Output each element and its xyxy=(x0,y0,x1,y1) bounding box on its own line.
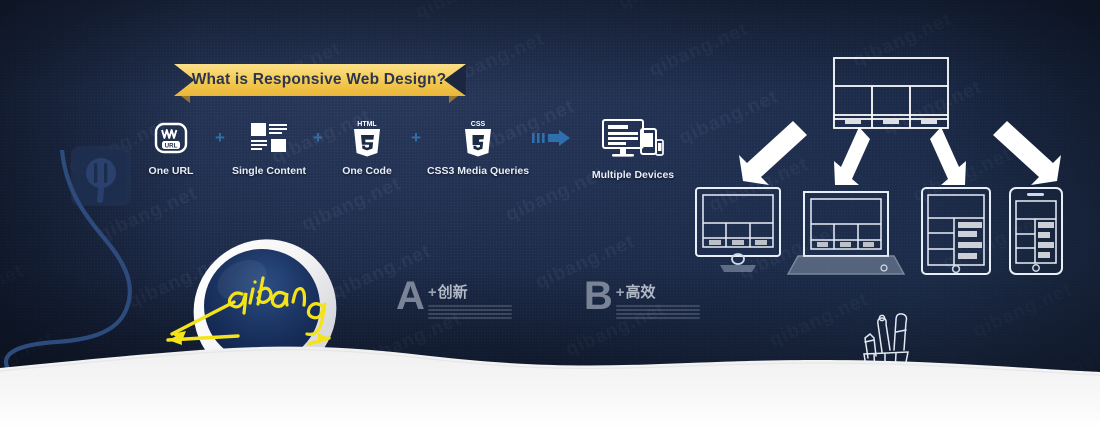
highlight-word: 高效 xyxy=(626,281,656,302)
page-title: What is Responsive Web Design? xyxy=(178,71,463,89)
device-smartphone xyxy=(1010,188,1062,274)
svg-text:CSS: CSS xyxy=(471,121,486,128)
device-desktop-monitor xyxy=(696,188,780,272)
feature-one-url: URL One URL xyxy=(132,118,210,177)
feature-label: CSS3 Media Queries xyxy=(427,165,529,177)
feature-single-content: Single Content xyxy=(230,118,308,177)
highlight-plus: + xyxy=(428,284,437,301)
device-tablet xyxy=(922,188,990,274)
device-laptop xyxy=(788,192,904,274)
highlight-letter: B xyxy=(584,278,613,314)
css3-icon: CSS xyxy=(461,118,495,158)
multiple-devices-icon xyxy=(602,118,664,162)
highlight-plus: + xyxy=(616,284,625,301)
section-title-ribbon: What is Responsive Web Design? xyxy=(174,64,466,96)
arrow-right-icon xyxy=(530,118,574,158)
feature-label: One Code xyxy=(342,165,392,177)
highlight-word: 创新 xyxy=(438,281,468,302)
hero-banner: qibang.net qibang.net qibang.net qibang.… xyxy=(0,0,1100,430)
feature-multiple-devices: Multiple Devices xyxy=(574,118,692,181)
svg-text:URL: URL xyxy=(165,142,178,149)
feature-label: Single Content xyxy=(232,165,306,177)
bottom-wave-divider xyxy=(0,310,1100,430)
plus-separator: + xyxy=(308,118,328,158)
feature-one-code: HTML One Code xyxy=(328,118,406,177)
single-content-icon xyxy=(249,118,289,158)
plus-separator: + xyxy=(210,118,230,158)
feature-css3-media-queries: CSS CSS3 Media Queries xyxy=(426,118,530,177)
feature-label: One URL xyxy=(149,165,194,177)
feature-list: URL One URL + xyxy=(132,118,692,181)
flow-arrows xyxy=(735,115,1065,195)
feature-label: Multiple Devices xyxy=(592,169,674,181)
html5-icon: HTML xyxy=(350,118,384,158)
one-url-icon: URL xyxy=(153,118,189,158)
plus-separator: + xyxy=(406,118,426,158)
highlight-letter: A xyxy=(396,278,425,314)
svg-text:HTML: HTML xyxy=(357,121,377,128)
device-row xyxy=(694,186,1074,290)
